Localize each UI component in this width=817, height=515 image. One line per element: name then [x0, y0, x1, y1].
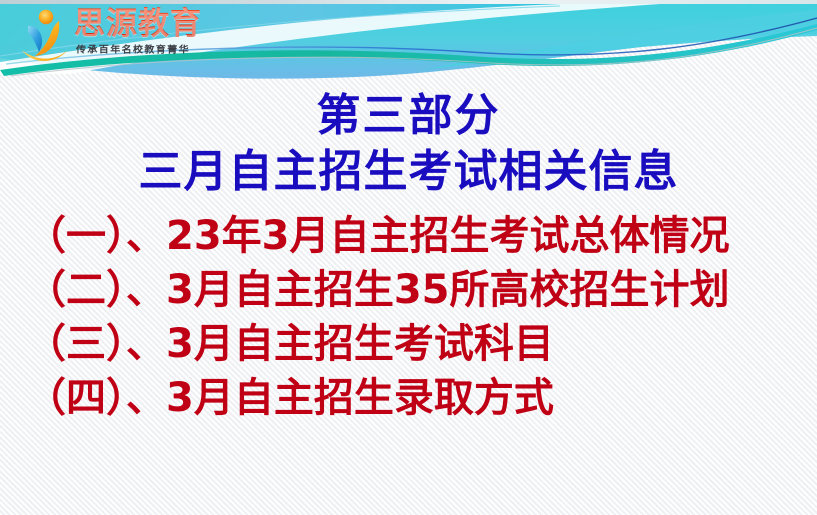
agenda-list: （一）、23年3月自主招生考试总体情况 （二）、3月自主招生35所高校招生计划 …: [26, 209, 806, 425]
page-title: 第三部分: [0, 88, 817, 144]
logo-tagline: 传承百年名校教育菁华: [76, 44, 190, 56]
agenda-item-2: （二）、3月自主招生35所高校招生计划: [26, 263, 806, 317]
logo-wordmark: 思源教育: [74, 6, 202, 42]
agenda-item-1: （一）、23年3月自主招生考试总体情况: [26, 209, 806, 263]
agenda-item-4: （四）、3月自主招生录取方式: [26, 371, 806, 425]
presentation-slide: 思源教育 传承百年名校教育菁华 第三部分 三月自主招生考试相关信息 （一）、23…: [0, 0, 817, 515]
person-sun-logo-icon: [16, 6, 74, 64]
brand-logo: 思源教育 传承百年名校教育菁华: [12, 4, 222, 66]
agenda-item-3: （三）、3月自主招生考试科目: [26, 317, 806, 371]
title-area: 第三部分 三月自主招生考试相关信息: [0, 88, 817, 200]
page-subtitle: 三月自主招生考试相关信息: [0, 144, 817, 200]
